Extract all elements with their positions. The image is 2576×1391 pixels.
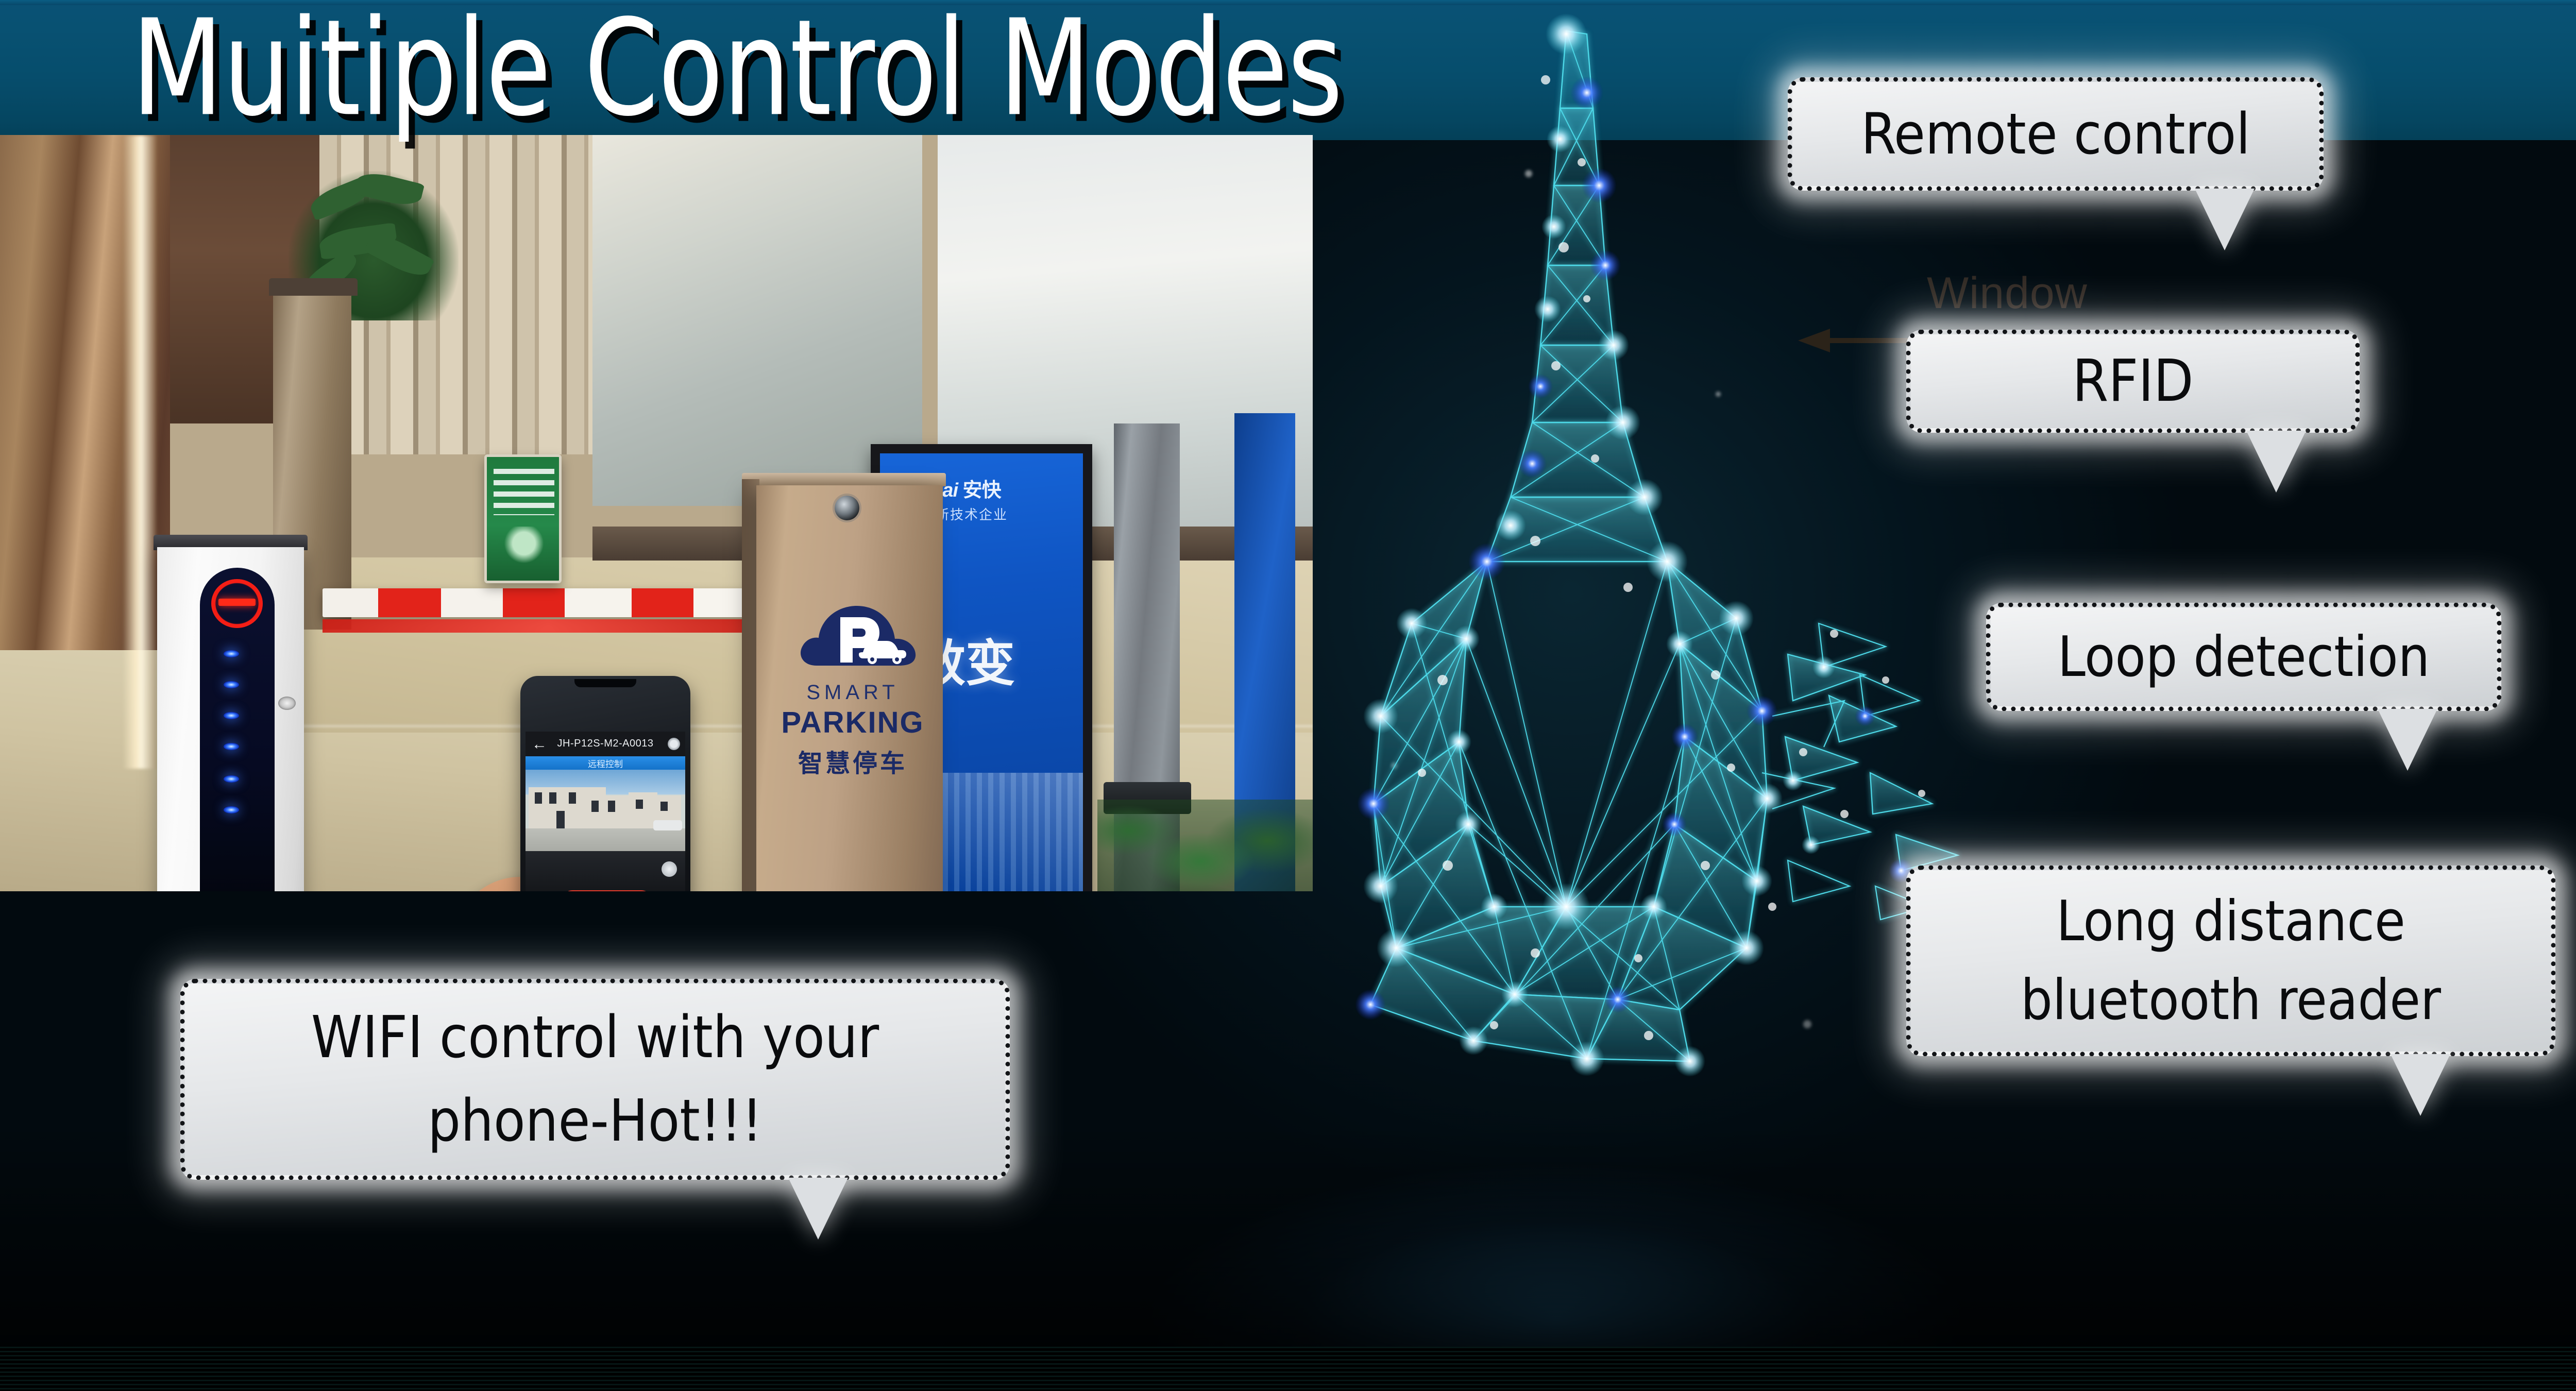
- photo-barrier-arm-underside: [323, 619, 774, 633]
- phone-remote-control-panel[interactable]: 1 2: [561, 890, 653, 891]
- photo-barrier-arm: [323, 588, 774, 617]
- phone-blue-bar-label: 远程控制: [520, 757, 690, 770]
- photo-controller-latch: [278, 697, 296, 710]
- callout-rfid-tail: [2246, 431, 2306, 493]
- controller-led: [224, 712, 239, 719]
- bottom-strip: [0, 1347, 2576, 1391]
- gear-icon[interactable]: [668, 738, 680, 750]
- kiosk-branding: SMART PARKING 智慧停车: [762, 681, 943, 779]
- installation-photo: AnKuai 安快 国家高新技术企业 效变: [0, 135, 1313, 891]
- photo-smartphone: ← JH-P12S-M2-A0013 远程控制: [520, 676, 690, 891]
- photo-green-sign-text: [494, 469, 554, 515]
- phone-camera-preview: [526, 770, 685, 851]
- callout-bluetooth-reader-bubble: Long distance bluetooth reader: [1906, 866, 2555, 1056]
- callout-wifi-control-tail: [788, 1178, 848, 1240]
- callout-rfid[interactable]: RFID: [1906, 330, 2360, 433]
- phone-notch: [574, 679, 636, 687]
- callout-wifi-control[interactable]: WIFI control with your phone-Hot!!!: [180, 979, 1010, 1180]
- photo-edge-fade: [1189, 135, 1313, 891]
- photo-kiosk-cap: [742, 473, 946, 486]
- callout-wifi-control-line2: phone-Hot!!!: [311, 1079, 879, 1163]
- controller-led: [224, 650, 239, 657]
- callout-bluetooth-reader-line2: bluetooth reader: [2021, 961, 2441, 1040]
- phone-shutter-dot[interactable]: [662, 861, 677, 877]
- photo-barrier-post-cap: [269, 278, 358, 296]
- callout-loop-detection-bubble: Loop detection: [1986, 603, 2501, 711]
- callout-remote-control-label: Remote control: [1810, 101, 2301, 167]
- photo-door-light: [123, 135, 157, 769]
- slide-canvas: Muitiple Control Modes AnKuai 安快 国家高新技术企…: [0, 0, 2576, 1391]
- camera-dome-icon: [835, 496, 859, 520]
- callout-bluetooth-reader[interactable]: Long distance bluetooth reader: [1906, 866, 2555, 1056]
- phone-dark-area: [526, 851, 685, 891]
- callout-loop-detection[interactable]: Loop detection: [1986, 603, 2501, 711]
- callout-loop-detection-label: Loop detection: [2008, 625, 2479, 689]
- photo-green-sign-icon: [503, 527, 545, 569]
- controller-led: [224, 743, 239, 750]
- callout-remote-control-bubble: Remote control: [1788, 77, 2324, 191]
- window-label: Window: [1927, 268, 2088, 319]
- callout-remote-control-tail: [2195, 189, 2255, 250]
- phone-device-id: JH-P12S-M2-A0013: [520, 738, 690, 750]
- controller-led: [224, 681, 239, 688]
- kiosk-brand-smart: SMART: [762, 681, 943, 704]
- ankuai-logo-cn: 安快: [963, 479, 1001, 501]
- callout-bluetooth-reader-line1: Long distance: [2021, 882, 2441, 961]
- kiosk-brand-chinese: 智慧停车: [762, 743, 943, 779]
- controller-led: [224, 775, 239, 783]
- controller-led: [224, 806, 239, 813]
- no-entry-led-bar: [218, 599, 256, 606]
- callout-loop-detection-tail: [2378, 709, 2437, 771]
- callout-bluetooth-reader-tail: [2391, 1054, 2450, 1116]
- callout-rfid-bubble: RFID: [1906, 330, 2360, 433]
- callout-wifi-control-bubble: WIFI control with your phone-Hot!!!: [180, 979, 1010, 1180]
- kiosk-brand-parking: PARKING: [762, 705, 943, 740]
- page-title: Muitiple Control Modes: [131, 0, 1343, 156]
- callout-remote-control[interactable]: Remote control: [1788, 77, 2324, 191]
- cloud-parking-car-icon: [796, 599, 920, 676]
- callout-wifi-control-line1: WIFI control with your: [311, 996, 879, 1079]
- callout-rfid-label: RFID: [1928, 348, 2337, 415]
